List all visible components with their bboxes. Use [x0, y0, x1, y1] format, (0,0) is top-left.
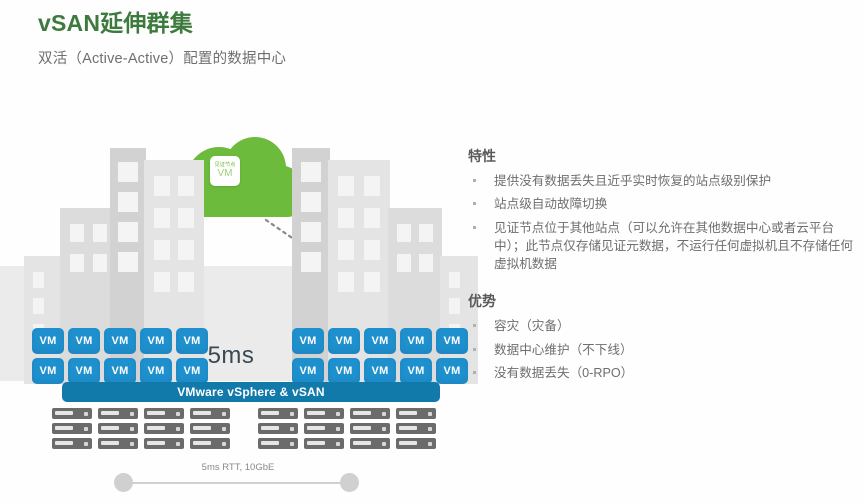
vm-tile: VM: [364, 328, 396, 354]
server-unit: [144, 408, 184, 419]
vm-tile: VM: [400, 328, 432, 354]
server-unit: [98, 423, 138, 434]
vm-tile: VM: [68, 358, 100, 384]
server-unit: [396, 408, 436, 419]
vm-tile: VM: [436, 358, 468, 384]
vm-tile: VM: [32, 358, 64, 384]
server-row: [258, 438, 448, 449]
vm-tile: VM: [68, 328, 100, 354]
site-left-vm-grid: VM VM VM VM VM VM VM VM VM VM: [32, 328, 212, 388]
server-unit: [396, 438, 436, 449]
server-row: [52, 408, 242, 419]
server-unit: [258, 438, 298, 449]
vm-tile: VM: [176, 358, 208, 384]
site-left-servers: [52, 408, 242, 453]
features-heading: 特性: [468, 146, 856, 166]
site-right-servers: [258, 408, 448, 453]
server-unit: [396, 423, 436, 434]
server-row: [258, 408, 448, 419]
vm-row: VM VM VM VM VM: [292, 358, 472, 384]
list-item: 容灾（灾备）: [466, 317, 856, 335]
vm-tile: VM: [328, 358, 360, 384]
advantages-heading: 优势: [468, 291, 856, 311]
vm-tile: VM: [140, 358, 172, 384]
server-unit: [52, 408, 92, 419]
server-unit: [350, 438, 390, 449]
vm-tile: VM: [292, 328, 324, 354]
list-item: 没有数据丢失（0-RPO）: [466, 364, 856, 382]
server-unit: [190, 438, 230, 449]
details-panel: 特性 提供没有数据丢失且近乎实时恢复的站点级别保护 站点级自动故障切换 见证节点…: [466, 146, 856, 387]
vm-tile: VM: [400, 358, 432, 384]
slide-canvas: vSAN延伸群集 双活（Active-Active）配置的数据中心 见证节点 V…: [0, 0, 864, 503]
server-unit: [304, 438, 344, 449]
list-item: 站点级自动故障切换: [466, 195, 856, 213]
server-unit: [52, 423, 92, 434]
list-item: 见证节点位于其他站点（可以允许在其他数据中心或者云平台中）；此节点仅存储见证元数…: [466, 219, 856, 274]
vm-tile: VM: [32, 328, 64, 354]
vm-tile: VM: [104, 328, 136, 354]
list-item: 数据中心维护（不下线）: [466, 341, 856, 359]
vm-tile: VM: [176, 328, 208, 354]
inter-site-link-label: 5ms RTT, 10GbE: [138, 462, 338, 473]
server-unit: [144, 438, 184, 449]
server-unit: [98, 438, 138, 449]
server-row: [258, 423, 448, 434]
vm-tile: VM: [292, 358, 324, 384]
server-unit: [98, 408, 138, 419]
architecture-diagram: 见证节点 VM 100兆网络 200ms RTT L3: [0, 120, 462, 503]
server-unit: [304, 423, 344, 434]
list-item: 提供没有数据丢失且近乎实时恢复的站点级别保护: [466, 172, 856, 190]
server-unit: [350, 423, 390, 434]
server-unit: [258, 408, 298, 419]
server-unit: [144, 423, 184, 434]
server-unit: [190, 423, 230, 434]
server-unit: [258, 423, 298, 434]
advantages-list: 容灾（灾备） 数据中心维护（不下线） 没有数据丢失（0-RPO）: [466, 317, 856, 382]
platform-bar: VMware vSphere & vSAN: [62, 382, 440, 402]
vm-tile: VM: [140, 328, 172, 354]
site-right-vm-grid: VM VM VM VM VM VM VM VM VM VM: [292, 328, 472, 388]
server-unit: [190, 408, 230, 419]
page-title: vSAN延伸群集: [38, 10, 538, 38]
vm-tile: VM: [364, 358, 396, 384]
server-unit: [52, 438, 92, 449]
server-unit: [304, 408, 344, 419]
vm-row: VM VM VM VM VM: [292, 328, 472, 354]
server-row: [52, 423, 242, 434]
slide-header: vSAN延伸群集 双活（Active-Active）配置的数据中心: [38, 10, 538, 68]
server-row: [52, 438, 242, 449]
vm-row: VM VM VM VM VM: [32, 358, 212, 384]
page-subtitle: 双活（Active-Active）配置的数据中心: [38, 47, 538, 68]
vm-tile: VM: [436, 328, 468, 354]
vm-tile: VM: [328, 328, 360, 354]
vm-tile: VM: [104, 358, 136, 384]
features-list: 提供没有数据丢失且近乎实时恢复的站点级别保护 站点级自动故障切换 见证节点位于其…: [466, 172, 856, 273]
inter-site-link: 5ms RTT, 10GbE: [0, 460, 462, 500]
link-line: [128, 482, 346, 484]
vm-row: VM VM VM VM VM: [32, 328, 212, 354]
server-unit: [350, 408, 390, 419]
